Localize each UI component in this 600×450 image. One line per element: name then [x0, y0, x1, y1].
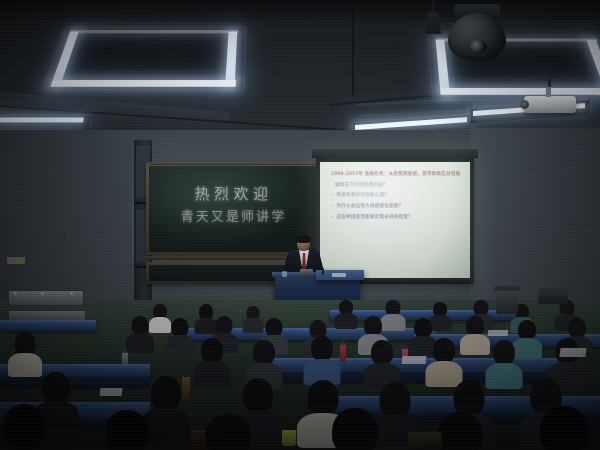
student: [248, 340, 280, 382]
student-shoulders: [335, 313, 358, 329]
student: [322, 408, 388, 450]
presenter-hair: [296, 235, 311, 243]
blackboard-line-2: 青天又是师讲学: [149, 206, 318, 225]
water-bottle: [340, 344, 346, 362]
dome-camera-icon: [448, 4, 506, 62]
student-head: [364, 316, 382, 336]
screen-surface: 1998–2007年 金融危机：从恐慌到衰退，货币政策应对措施 如何与下行风险相…: [320, 162, 470, 279]
desk-edge: [0, 320, 96, 323]
podium-glass: [282, 271, 287, 277]
student: [488, 340, 520, 382]
wall-outlet-plate: [7, 257, 25, 264]
podium-microphone: [322, 268, 324, 275]
troffer-tube: [69, 30, 238, 33]
blackboard-top-rail: [148, 162, 319, 165]
student-head: [454, 380, 485, 416]
bottle-cap: [184, 373, 189, 377]
student-head: [206, 414, 251, 450]
student: [462, 316, 488, 350]
student: [306, 336, 338, 378]
right-wall: [470, 128, 600, 323]
student: [530, 406, 598, 450]
student-head: [311, 336, 333, 361]
trash-bin: [496, 290, 518, 314]
notebook-page: [401, 356, 426, 364]
slide-content: 1998–2007年 金融危机：从恐慌到衰退，货币政策应对措施 如何与下行风险相…: [320, 162, 470, 279]
student-head: [3, 404, 45, 450]
blackboard-line-1: 热烈欢迎: [149, 183, 318, 204]
student-head: [253, 340, 275, 365]
camera-dome: [448, 13, 506, 61]
student-head: [105, 410, 149, 450]
projector-mount: [546, 87, 551, 97]
student-head: [42, 372, 70, 404]
slide-line: 为什么会出现大规模量化宽松？: [331, 204, 461, 210]
student-shoulders: [194, 361, 231, 387]
student: [196, 414, 260, 450]
bench-bolt: [14, 292, 17, 295]
podium-papers: [332, 273, 346, 277]
notebook-page: [99, 388, 122, 396]
student: [150, 304, 170, 330]
projection-screen: 1998–2007年 金融危机：从恐慌到衰退，货币政策应对措施 如何与下行风险相…: [316, 158, 474, 284]
student: [128, 316, 152, 348]
bottle-cap: [341, 341, 345, 345]
student: [0, 404, 54, 450]
slide-line: 有没有更好的救助之道？: [331, 193, 461, 199]
troffer-tube: [440, 88, 600, 95]
student: [244, 306, 262, 330]
student-shoulders: [243, 318, 264, 333]
desk-row-left-rear: [0, 322, 96, 331]
handbag: [408, 432, 442, 448]
student: [366, 340, 398, 382]
ceiling-seam: [352, 0, 354, 96]
student-head: [15, 332, 36, 355]
student: [550, 338, 584, 382]
student-head: [438, 412, 483, 450]
student-head: [568, 318, 586, 338]
troffer-tube: [0, 117, 84, 122]
student: [428, 338, 460, 380]
student-shoulders: [126, 333, 154, 353]
student-head: [332, 408, 378, 450]
student-head: [518, 320, 536, 340]
troffer-tube: [50, 80, 236, 87]
student-head: [433, 338, 455, 363]
screen-case: [312, 149, 478, 158]
student-head: [493, 340, 515, 365]
wall-mark: [63, 235, 66, 239]
bench-bolt: [41, 292, 44, 295]
water-bottle: [182, 376, 190, 400]
podium-laptop: [300, 269, 313, 277]
projector-lens: [520, 100, 529, 109]
notebook-page: [559, 348, 586, 357]
camera-lens: [468, 40, 487, 53]
student: [196, 338, 228, 380]
student: [168, 318, 192, 350]
bench-bolt: [70, 292, 73, 295]
paper-cup: [282, 430, 296, 446]
pendant-rod: [432, 0, 434, 14]
student-shoulders: [460, 334, 490, 355]
projector-body: [524, 96, 576, 113]
lecture-hall-photo: 热烈欢迎 青天又是师讲学 1998–2007年 金融危机：从恐慌到衰退，货币政策…: [0, 0, 600, 450]
slide-line: 如何与下行风险相对应？: [335, 183, 461, 189]
slide-line: 这些举措是否能够实现长效的稳定？: [331, 215, 461, 221]
student-shoulders: [166, 335, 194, 355]
handbag: [538, 288, 568, 304]
student-head: [414, 318, 432, 338]
student-head: [151, 376, 181, 411]
student: [96, 410, 158, 450]
student-head: [371, 340, 393, 365]
student-head: [201, 338, 223, 363]
projector-icon: [524, 96, 576, 113]
bottle-cap: [123, 349, 127, 353]
student-head: [466, 316, 484, 336]
notebook-page: [488, 330, 509, 336]
fluorescent-troffer: [43, 28, 246, 90]
ceiling-dark-band: [0, 0, 600, 22]
student-head: [243, 378, 273, 413]
trash-bin-lid: [494, 286, 520, 291]
student-head: [540, 406, 588, 450]
student: [336, 300, 356, 326]
bottle-cap: [403, 345, 407, 349]
slide-line: 1998–2007年 金融危机：从恐慌到衰退，货币政策应对措施: [331, 172, 461, 178]
student: [10, 332, 40, 372]
water-bottle: [122, 352, 128, 366]
